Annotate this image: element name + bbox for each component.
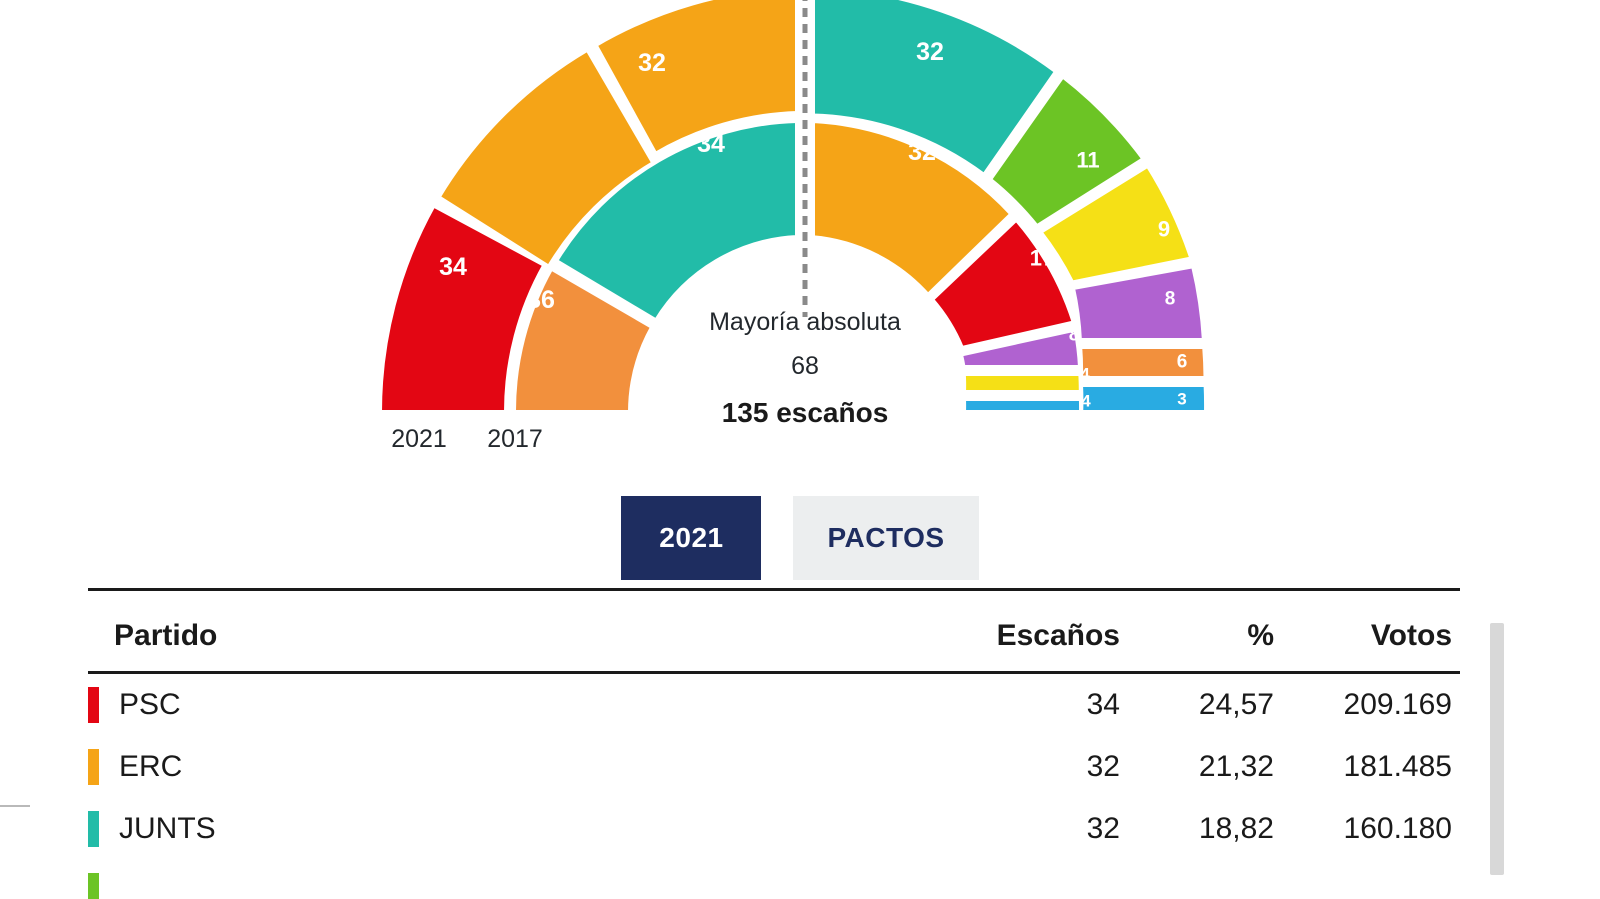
outer-label-cs: 3 <box>1177 390 1186 409</box>
view-tabs: 2021 PACTOS <box>0 496 1600 580</box>
ring-year-outer-label: 2021 <box>391 425 447 453</box>
row-pct: 21,32 <box>1120 736 1280 798</box>
inner-label-cup17: 4 <box>1080 365 1090 384</box>
column-header-pct[interactable]: % <box>1120 591 1280 673</box>
outer-label-cup: 11 <box>1076 148 1099 173</box>
outer-label-psc: 34 <box>439 253 467 281</box>
row-party-cell: ERC <box>88 736 968 798</box>
party-color-swatch <box>88 873 99 899</box>
inner-label-ciu: 36 <box>527 286 555 314</box>
outer-label-erc: 32 <box>638 49 666 77</box>
hemicycle-svg: 34 32 32 11 9 8 6 3 36 34 32 17 <box>0 0 1600 472</box>
left-edge-divider <box>0 805 30 807</box>
hemicycle-chart: 34 32 32 11 9 8 6 3 36 34 32 17 <box>0 0 1600 472</box>
outer-seg-cs[interactable] <box>1081 385 1206 412</box>
outer-label-vox: 9 <box>1158 217 1170 242</box>
inner-label-junts17: 34 <box>697 130 725 158</box>
row-seats: 32 <box>968 798 1120 860</box>
column-header-seats[interactable]: Escaños <box>968 591 1120 673</box>
tab-pactos-label: PACTOS <box>827 522 944 554</box>
outer-label-comuns: 8 <box>1165 289 1176 310</box>
ring-year-inner-label: 2017 <box>487 425 543 453</box>
inner-label-pp17: 4 <box>1081 392 1091 411</box>
table-header-row: Partido Escaños % Votos <box>88 591 1460 673</box>
party-name: JUNTS <box>119 812 216 846</box>
row-seats: 34 <box>968 673 1120 737</box>
row-pct: 24,57 <box>1120 673 1280 737</box>
row-votes: 160.180 <box>1280 798 1460 860</box>
party-color-swatch <box>88 749 99 785</box>
table-row[interactable] <box>88 860 1460 899</box>
table-scrollbar[interactable] <box>1490 623 1504 875</box>
inner-seg-cup17[interactable] <box>964 374 1081 392</box>
row-votes <box>1280 860 1460 899</box>
party-name: PSC <box>119 688 181 722</box>
row-votes: 181.485 <box>1280 736 1460 798</box>
row-pct: 18,82 <box>1120 798 1280 860</box>
tab-pactos[interactable]: PACTOS <box>793 496 978 580</box>
party-color-swatch <box>88 687 99 723</box>
inner-label-psc17: 17 <box>1030 246 1054 271</box>
row-votes: 209.169 <box>1280 673 1460 737</box>
outer-label-junts: 32 <box>916 38 944 66</box>
total-seats-label: 135 escaños <box>722 397 889 428</box>
tab-2021[interactable]: 2021 <box>621 496 761 580</box>
row-seats: 32 <box>968 736 1120 798</box>
tab-2021-label: 2021 <box>659 522 723 554</box>
inner-label-erc17: 32 <box>908 138 936 166</box>
majority-caption: Mayoría absoluta <box>709 308 901 336</box>
majority-number: 68 <box>791 352 819 380</box>
inner-label-comuns17: 8 <box>1069 325 1080 346</box>
row-seats <box>968 860 1120 899</box>
row-party-cell: PSC <box>88 673 968 737</box>
column-header-votes[interactable]: Votos <box>1280 591 1460 673</box>
outer-label-pp: 6 <box>1177 352 1188 373</box>
party-name: ERC <box>119 750 182 784</box>
party-color-swatch <box>88 811 99 847</box>
results-table: Partido Escaños % Votos PSC 34 24,57 <box>88 591 1460 899</box>
row-party-cell <box>88 860 968 899</box>
inner-seg-pp17[interactable] <box>964 399 1081 412</box>
column-header-party[interactable]: Partido <box>88 591 968 673</box>
election-results-page: 34 32 32 11 9 8 6 3 36 34 32 17 <box>0 0 1600 899</box>
table-row[interactable]: ERC 32 21,32 181.485 <box>88 736 1460 798</box>
row-pct <box>1120 860 1280 899</box>
row-party-cell: JUNTS <box>88 798 968 860</box>
results-table-area: Partido Escaños % Votos PSC 34 24,57 <box>88 588 1512 899</box>
table-row[interactable]: PSC 34 24,57 209.169 <box>88 673 1460 737</box>
table-scrollbar-thumb[interactable] <box>1490 623 1504 875</box>
table-row[interactable]: JUNTS 32 18,82 160.180 <box>88 798 1460 860</box>
